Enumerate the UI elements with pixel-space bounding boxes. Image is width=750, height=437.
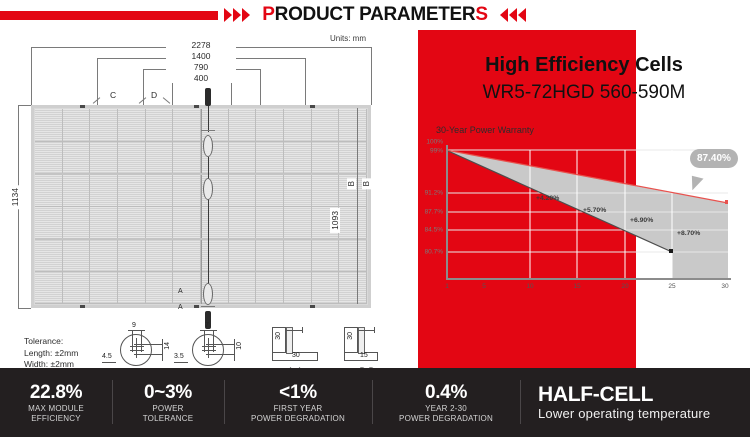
dim-ext-790-right: [260, 69, 261, 105]
section-marker-b-left: B: [347, 178, 356, 189]
spec-desc-half-cell: Lower operating temperature: [538, 406, 750, 422]
detail-c-inner-1: [130, 346, 144, 347]
cable-top: [208, 106, 209, 132]
chart-callout-value: 87.40%: [690, 149, 738, 168]
mounting-clip-top-2: [194, 105, 199, 108]
spec-item-first-year: <1% FIRST YEAR POWER DEGRADATION: [224, 382, 372, 424]
detail-c-right-ext1: [134, 344, 162, 345]
dim-ext-1134-bottom: [18, 308, 31, 309]
section-marker-a-lower: A: [178, 304, 183, 311]
chart-xtick-30: 30: [721, 283, 728, 290]
chart-ytick-100: 100%: [426, 139, 443, 146]
detail-aa-vert-value: 30: [275, 332, 282, 340]
chart-xtick-1: 1: [445, 283, 449, 290]
detail-d-left-leader: [174, 362, 188, 363]
detail-c-inner-3: [136, 338, 137, 358]
page-title: PRODUCT PARAMETERS: [0, 4, 750, 26]
detail-d-right-ext2: [206, 354, 234, 355]
page-title-accent-last: S: [475, 4, 487, 25]
section-marker-b-right: B: [362, 178, 371, 189]
detail-aa-web: [286, 327, 293, 354]
solar-panel-drawing: [31, 105, 371, 308]
spec-desc-first-year-l2: POWER DEGRADATION: [224, 414, 372, 424]
spec-value-efficiency: 22.8%: [0, 382, 112, 404]
dim-label-2278: 2278: [166, 40, 236, 50]
cable-tie-top: [201, 130, 215, 131]
cable-mid: [208, 157, 209, 287]
detail-d-left-value: 3.5: [174, 353, 184, 360]
detail-bb-horiz-value: 15: [360, 352, 368, 359]
detail-d-dim-top-line: [200, 330, 217, 331]
detail-c-right-value: 14: [164, 342, 171, 350]
chart-annotation-1: +4.20%: [536, 195, 559, 202]
spec-desc-year-2-30-l2: POWER DEGRADATION: [372, 414, 520, 424]
spec-separator-2: [224, 380, 225, 424]
spec-value-half-cell: HALF-CELL: [538, 384, 750, 406]
chart-xtick-20: 20: [621, 283, 628, 290]
leader-d-right: [163, 97, 171, 104]
mounting-clip-top-1: [80, 105, 85, 108]
detail-d-inner-1: [202, 346, 216, 347]
detail-bb-web: [358, 327, 365, 354]
spec-desc-first-year-l1: FIRST YEAR: [224, 404, 372, 414]
detail-d-ext-2: [213, 330, 214, 352]
detail-c-ext-1: [132, 330, 133, 352]
spec-desc-tolerance-l2: TOLERANCE: [112, 414, 224, 424]
busbar-lower: [35, 238, 367, 240]
dim-label-1400: 1400: [166, 51, 236, 61]
chart-ytick-99: 99%: [430, 148, 443, 155]
chart-xtick-25: 25: [668, 283, 675, 290]
page-title-accent-first: P: [262, 4, 274, 25]
spec-value-first-year: <1%: [224, 382, 372, 404]
panel-center-seam: [201, 109, 202, 304]
chart-ytick-877: 87.7%: [425, 209, 443, 216]
mounting-clip-bottom-1: [80, 305, 85, 308]
detail-bb-vert-value: 30: [347, 332, 354, 340]
chart-ytick-912: 91.2%: [425, 190, 443, 197]
mounting-clip-top-3: [310, 105, 315, 108]
panel-surface: [35, 109, 367, 304]
spec-separator-1: [112, 380, 113, 424]
chart-ytick-845: 84.5%: [425, 227, 443, 234]
chart-ytick-807: 80.7%: [425, 249, 443, 256]
tolerance-length: Length: ±2mm: [24, 348, 78, 360]
units-label: Units: mm: [330, 34, 366, 43]
chart-endpoint-warranty: [725, 200, 728, 204]
power-warranty-chart: 30-Year Power Warranty: [422, 125, 750, 310]
dim-label-1093: 1093: [330, 208, 340, 233]
chart-annotation-3: +6.90%: [630, 217, 653, 224]
dim-label-1134: 1134: [10, 185, 20, 209]
spec-desc-year-2-30-l1: YEAR 2-30: [372, 404, 520, 414]
chart-xtick-5: 5: [482, 283, 486, 290]
chart-annotation-2: +5.70%: [583, 207, 606, 214]
mounting-clip-bottom-3: [310, 305, 315, 308]
detail-marker-d: D: [151, 90, 157, 100]
chart-annotation-4: +8.70%: [677, 230, 700, 237]
chart-y-axis: [446, 145, 448, 280]
spec-item-half-cell: HALF-CELL Lower operating temperature: [520, 384, 750, 422]
detail-d-inner-3: [208, 338, 209, 358]
detail-c-top-value: 9: [132, 322, 136, 329]
dim-label-400: 400: [166, 73, 236, 83]
detail-d-top-value: 7: [205, 322, 209, 329]
spec-desc-tolerance-l1: POWER: [112, 404, 224, 414]
page-title-main: RODUCT PARAMETER: [275, 4, 476, 25]
spec-item-tolerance: 0~3% POWER TOLERANCE: [112, 382, 224, 424]
tolerance-block: Tolerance: Length: ±2mm Width: ±2mm: [24, 336, 78, 371]
spec-item-year-2-30: 0.4% YEAR 2-30 POWER DEGRADATION: [372, 382, 520, 424]
dim-ext-400-left: [172, 80, 173, 105]
dim-line-1093: [357, 108, 358, 304]
detail-view-aa: 30 30 A-A: [268, 322, 330, 372]
detail-c-left-leader: [102, 362, 116, 363]
busbar-upper: [35, 173, 367, 175]
detail-d-ext-1: [204, 330, 205, 352]
chart-endpoint-industry: [669, 249, 673, 253]
chart-plot-area: 100% 99% 91.2% 87.7% 84.5% 80.7% 1 5 10 …: [446, 145, 728, 280]
spec-desc-efficiency-l2: EFFICIENCY: [0, 414, 112, 424]
spec-item-efficiency: 22.8% MAX MODULE EFFICIENCY: [0, 382, 112, 424]
mounting-clip-bottom-2: [194, 305, 199, 308]
detail-bb-flange: [358, 330, 375, 331]
detail-bb-flange-end: [374, 327, 375, 333]
tolerance-heading: Tolerance:: [24, 336, 78, 348]
technical-drawing: Units: mm 2278 1400 790 400 C D 1134: [0, 30, 418, 368]
connector-top: [203, 135, 213, 157]
detail-view-c: 9 14 4.5 C: [118, 322, 178, 372]
chart-xtick-15: 15: [573, 283, 580, 290]
detail-c-ext-2: [141, 330, 142, 352]
detail-aa-horiz-value: 30: [292, 352, 300, 359]
page-header: PRODUCT PARAMETERS: [0, 0, 750, 30]
spec-value-year-2-30: 0.4%: [372, 382, 520, 404]
detail-d-right-value: 10: [236, 342, 243, 350]
detail-c-inner-2: [130, 350, 144, 351]
junction-box-top: [205, 88, 211, 106]
spec-separator-3: [372, 380, 373, 424]
detail-view-bb: 30 15 B-B: [340, 322, 402, 372]
product-info-panel: High Efficiency Cells WR5-72HGD 560-590M…: [418, 30, 750, 368]
connector-mid: [203, 178, 213, 200]
dim-ext-2278-right: [371, 47, 372, 105]
detail-marker-c: C: [110, 90, 116, 100]
dim-label-790: 790: [166, 62, 236, 72]
product-model: WR5-72HGD 560-590M: [418, 82, 750, 104]
cable-tie-bottom: [201, 306, 215, 307]
spec-footer: 22.8% MAX MODULE EFFICIENCY 0~3% POWER T…: [0, 368, 750, 437]
detail-c-dim-top-line: [128, 330, 145, 331]
spec-separator-4: [520, 380, 521, 424]
detail-d-right-line: [234, 339, 235, 361]
product-headline: High Efficiency Cells: [418, 54, 750, 77]
detail-c-right-ext2: [134, 354, 162, 355]
product-parameters-page: PRODUCT PARAMETERS Units: mm 2278 1400 7…: [0, 0, 750, 437]
detail-aa-flange: [286, 330, 303, 331]
chart-title: 30-Year Power Warranty: [436, 125, 534, 135]
spec-value-tolerance: 0~3%: [112, 382, 224, 404]
detail-c-right-line: [162, 339, 163, 361]
detail-aa-flange-end: [302, 327, 303, 333]
section-marker-a-upper: A: [178, 288, 183, 295]
dim-ext-2278-left: [31, 47, 32, 105]
detail-d-inner-2: [202, 350, 216, 351]
chart-x-axis: [446, 278, 731, 280]
connector-bottom: [203, 283, 213, 305]
detail-c-left-value: 4.5: [102, 353, 112, 360]
detail-view-d: 7 10 3.5 D: [190, 322, 250, 372]
dim-ext-1400-right: [305, 58, 306, 105]
dim-ext-1134-top: [18, 105, 31, 106]
chart-xtick-10: 10: [526, 283, 533, 290]
spec-desc-efficiency-l1: MAX MODULE: [0, 404, 112, 414]
dim-ext-400-right: [231, 80, 232, 105]
detail-d-right-ext1: [206, 344, 234, 345]
